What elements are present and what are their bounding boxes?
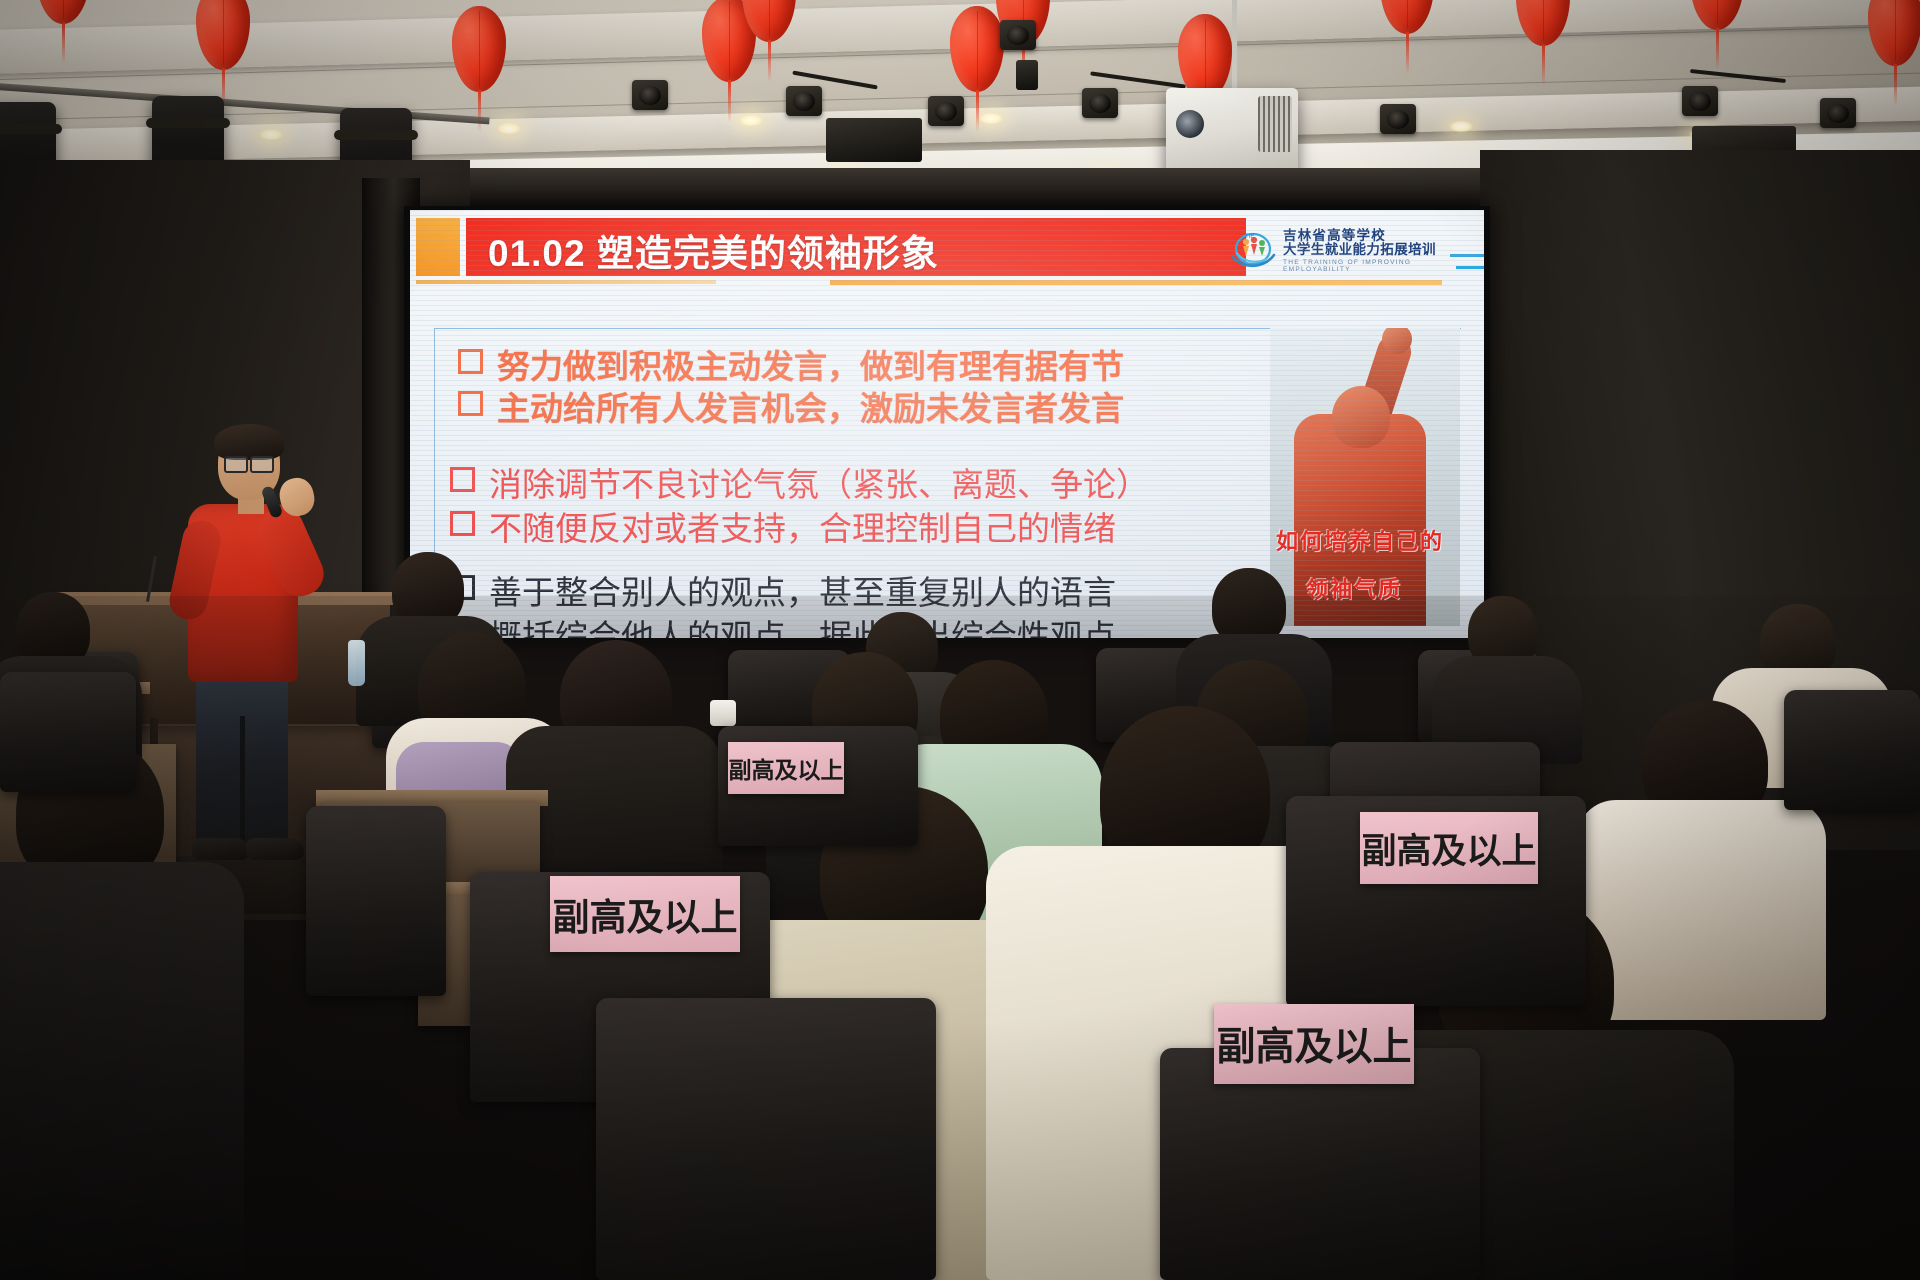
seat-placard: 副高及以上 xyxy=(1360,812,1538,884)
ceiling-speaker xyxy=(786,86,822,116)
logo-emblem-icon: TIE xyxy=(1230,229,1276,273)
ceiling-speaker xyxy=(928,96,964,126)
hanging-light-fixture xyxy=(826,118,922,162)
speaker-arm xyxy=(1090,71,1186,88)
slide-bullet-text: 消除调节不良讨论气氛（紧张、离题、争论） xyxy=(489,458,1149,506)
logo-line-1: 吉林省高等学校 xyxy=(1283,229,1480,243)
seat-back xyxy=(0,672,136,792)
projection-screen: 01.02 塑造完美的领袖形象 TIE xyxy=(410,210,1484,638)
ceiling-speaker xyxy=(1082,88,1118,118)
slide-bullet: 主动给所有人发言机会，激励未发言者发言 xyxy=(458,382,1124,430)
slide-bullet-text: 努力做到积极主动发言，做到有理有据有节 xyxy=(497,340,1124,388)
ceiling-downlight xyxy=(1448,120,1474,133)
slide-bullet: 不随便反对或者支持，合理控制自己的情绪 xyxy=(450,502,1116,550)
logo-line-3: THE TRAINING OF IMPROVING EMPLOYABILITY xyxy=(1283,259,1480,273)
checkbox-icon xyxy=(458,349,483,374)
ceiling-speaker xyxy=(632,80,668,110)
slide-title-underline xyxy=(830,280,1442,285)
slide-statue-image: 如何培养自己的 领袖气质 xyxy=(1270,328,1460,626)
slide-title-underline-left xyxy=(416,280,716,284)
slide-handwriting-line-1: 如何培养自己的 xyxy=(1276,524,1444,556)
paper-cup xyxy=(710,700,736,726)
projector-mount xyxy=(1232,0,1237,92)
ceiling-downlight xyxy=(978,112,1004,125)
ceiling-speaker xyxy=(1820,98,1856,128)
seat-placard-text: 副高及以上 xyxy=(1216,1016,1411,1072)
audience-member-body xyxy=(0,862,244,1280)
ceiling-speaker xyxy=(1380,104,1416,134)
slide-title: 01.02 塑造完美的领袖形象 xyxy=(488,223,1248,277)
red-lantern xyxy=(452,6,506,92)
presenter-hair xyxy=(214,424,284,460)
slide-title-accent-bar xyxy=(416,218,460,276)
seat-placard: 副高及以上 xyxy=(550,876,740,952)
red-lantern xyxy=(1868,0,1920,66)
slide-bullet-text: 主动给所有人发言机会，激励未发言者发言 xyxy=(497,382,1124,430)
slide-bullet: 消除调节不良讨论气氛（紧张、离题、争论） xyxy=(450,458,1149,506)
seat-placard: 副高及以上 xyxy=(728,742,844,794)
seat-placard-text: 副高及以上 xyxy=(729,751,844,785)
wall-upper-band xyxy=(400,168,1520,208)
ceiling-downlight xyxy=(738,114,764,127)
ceiling-speaker xyxy=(1682,86,1718,116)
checkbox-icon xyxy=(458,391,483,416)
ceiling-speaker xyxy=(1000,20,1036,50)
checkbox-icon xyxy=(450,467,475,492)
seat-placard-text: 副高及以上 xyxy=(1361,823,1536,874)
red-lantern xyxy=(950,6,1004,92)
red-lantern xyxy=(36,0,90,24)
svg-text:TIE: TIE xyxy=(1245,234,1254,240)
seat-placard: 副高及以上 xyxy=(1214,1004,1414,1084)
hanging-light-fixture xyxy=(1016,60,1038,90)
screenshot-root: 01.02 塑造完美的领袖形象 TIE xyxy=(0,0,1920,1280)
ceiling-downlight xyxy=(258,128,284,141)
seat-back xyxy=(596,998,936,1280)
ceiling-downlight xyxy=(496,122,522,135)
checkbox-icon xyxy=(450,511,475,536)
slide-bullet-text: 不随便反对或者支持，合理控制自己的情绪 xyxy=(489,502,1116,550)
seat-back xyxy=(306,806,446,996)
presenter-glasses xyxy=(224,456,274,469)
water-bottle xyxy=(348,640,365,686)
projector xyxy=(1166,88,1298,180)
organization-logo: TIE 吉林省高等学校 大学生就业能力拓展培训 THE TRAINING OF … xyxy=(1230,226,1480,276)
red-lantern xyxy=(1516,0,1570,46)
logo-blue-rule xyxy=(1450,254,1484,257)
slide-bullet: 努力做到积极主动发言，做到有理有据有节 xyxy=(458,340,1124,388)
seat-back xyxy=(1784,690,1920,810)
seat-placard-text: 副高及以上 xyxy=(553,887,738,941)
